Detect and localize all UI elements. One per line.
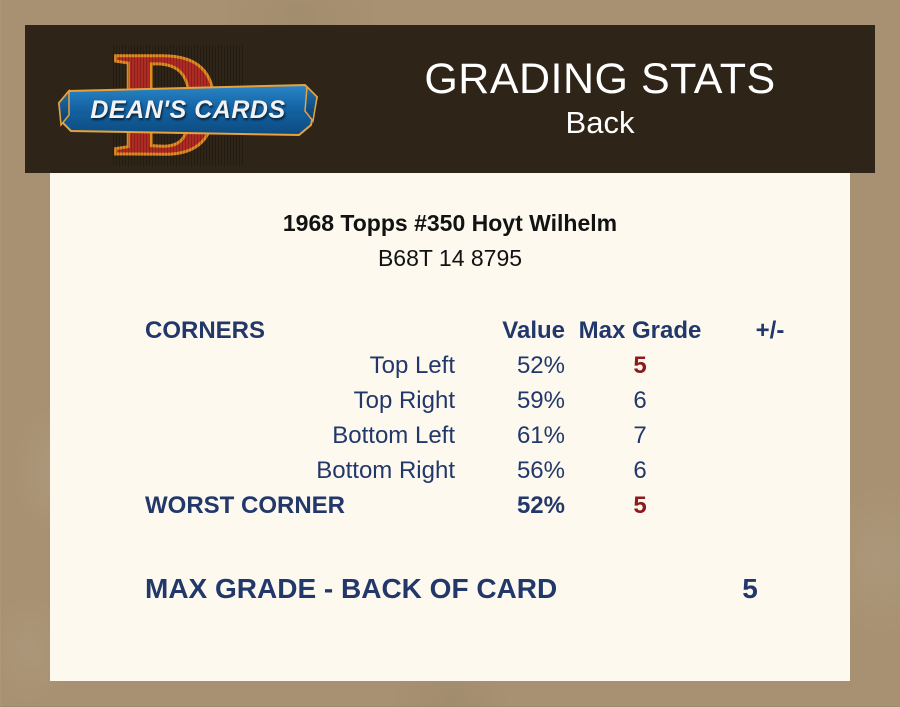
grading-stats-page: D [0, 0, 900, 707]
corner-plus-minus [715, 383, 825, 418]
column-header-value: Value [455, 313, 565, 348]
card-title: 1968 Topps #350 Hoyt Wilhelm [50, 210, 850, 237]
corner-label: Top Left [145, 348, 455, 383]
corner-value: 56% [455, 453, 565, 488]
corners-stats-table: CORNERS Value Max Grade +/- Top Left52%5… [145, 313, 825, 523]
corner-value: 61% [455, 418, 565, 453]
column-header-plus-minus: +/- [715, 313, 825, 348]
card-sku: B68T 14 8795 [50, 245, 850, 272]
logo-ribbon: DEAN'S CARDS [55, 81, 321, 139]
max-grade-value: 5 [695, 573, 805, 605]
deans-cards-logo[interactable]: D [53, 33, 323, 173]
corner-label: Top Right [145, 383, 455, 418]
corner-plus-minus [715, 453, 825, 488]
max-grade-label: MAX GRADE - BACK OF CARD [145, 573, 557, 605]
corner-label: Bottom Right [145, 453, 455, 488]
header-text-group: GRADING STATS Back [325, 25, 875, 173]
table-row: Bottom Right56%6 [145, 453, 825, 488]
page-subtitle: Back [566, 105, 635, 141]
table-row: Top Left52%5 [145, 348, 825, 383]
column-header-max-grade: Max Grade [565, 313, 715, 348]
corner-grade: 5 [565, 488, 715, 523]
table-row: WORST CORNER52%5 [145, 488, 825, 523]
corner-plus-minus [715, 488, 825, 523]
logo-ribbon-text: DEAN'S CARDS [55, 81, 321, 139]
corner-value: 52% [455, 348, 565, 383]
corner-grade: 6 [565, 383, 715, 418]
table-head: CORNERS Value Max Grade +/- [145, 313, 825, 348]
header-band: D [25, 25, 875, 173]
table-row: Top Right59%6 [145, 383, 825, 418]
corner-grade: 7 [565, 418, 715, 453]
corner-value: 52% [455, 488, 565, 523]
corner-grade: 6 [565, 453, 715, 488]
corner-plus-minus [715, 418, 825, 453]
corner-plus-minus [715, 348, 825, 383]
table-header-row: CORNERS Value Max Grade +/- [145, 313, 825, 348]
content-panel: 1968 Topps #350 Hoyt Wilhelm B68T 14 879… [50, 173, 850, 681]
page-title: GRADING STATS [424, 57, 775, 102]
corner-grade: 5 [565, 348, 715, 383]
corner-value: 59% [455, 383, 565, 418]
table-row: Bottom Left61%7 [145, 418, 825, 453]
corner-label: WORST CORNER [145, 488, 455, 523]
table-body: Top Left52%5Top Right59%6Bottom Left61%7… [145, 348, 825, 523]
column-header-corners: CORNERS [145, 313, 455, 348]
corner-label: Bottom Left [145, 418, 455, 453]
max-grade-summary: MAX GRADE - BACK OF CARD 5 [145, 573, 825, 613]
